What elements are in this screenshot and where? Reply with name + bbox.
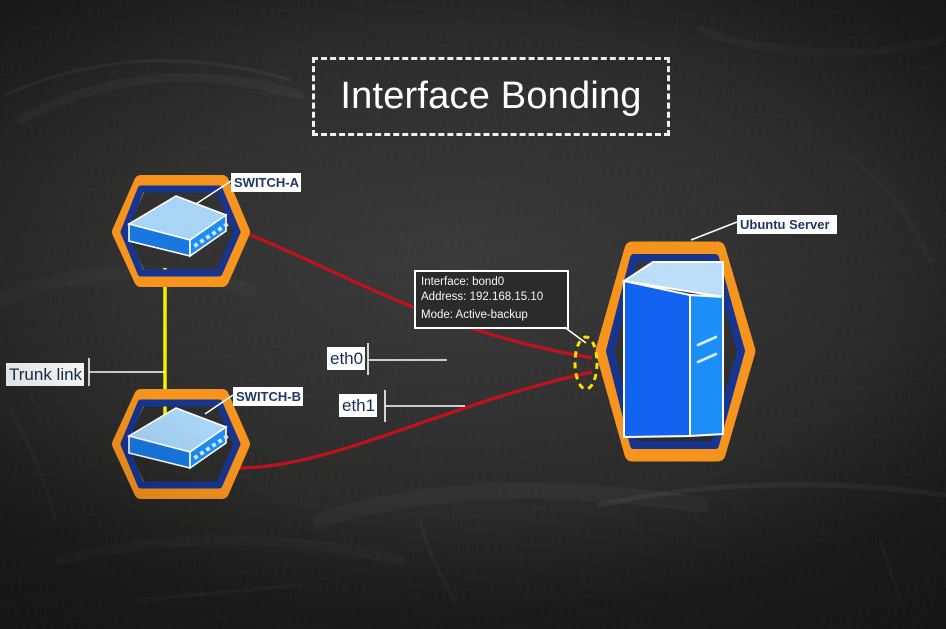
switch-b-leader bbox=[205, 395, 233, 414]
label-eth1: eth1 bbox=[339, 394, 377, 417]
label-switch-b: SWITCH-B bbox=[233, 387, 303, 406]
label-ubuntu-server: Ubuntu Server bbox=[737, 215, 837, 234]
label-eth0: eth0 bbox=[327, 347, 365, 370]
info-mode-line: Mode: Active-backup bbox=[421, 308, 562, 323]
bond-highlight-ellipse bbox=[575, 337, 597, 389]
label-switch-a: SWITCH-A bbox=[231, 173, 301, 192]
diagram-title-box: Interface Bonding bbox=[312, 57, 670, 136]
switch-a-leader bbox=[196, 181, 231, 204]
label-trunk-link: Trunk link bbox=[6, 363, 84, 386]
info-address-line: Address: 192.168.15.10 bbox=[421, 290, 562, 305]
server-leader bbox=[691, 222, 737, 240]
diagram-canvas: Interface Bonding SWITCH-A SWITCH-B Ubun… bbox=[0, 0, 946, 629]
page-title: Interface Bonding bbox=[340, 75, 641, 118]
info-interface-line: Interface: bond0 bbox=[421, 275, 562, 290]
bond-info-callout: Interface: bond0 Address: 192.168.15.10 … bbox=[414, 270, 569, 329]
